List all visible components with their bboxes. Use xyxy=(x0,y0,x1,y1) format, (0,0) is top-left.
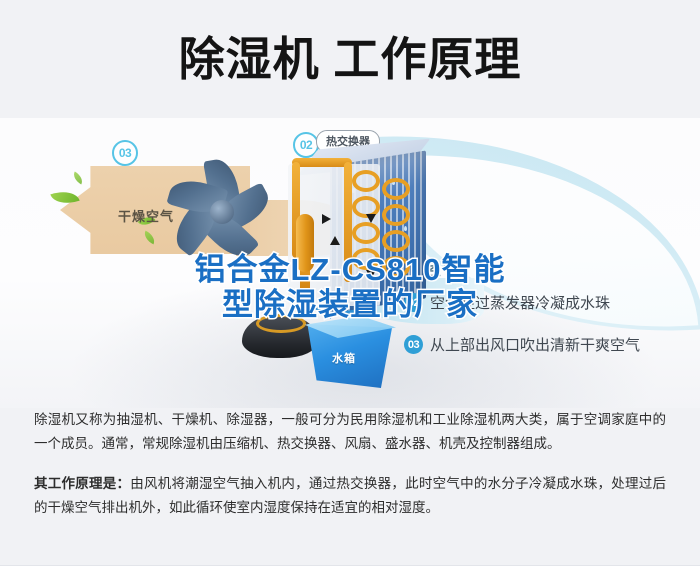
coil-loop xyxy=(382,178,410,200)
dehumidifier-cutaway: 水箱 xyxy=(0,118,700,408)
flow-arrow-right-icon xyxy=(322,214,331,224)
principle-diagram: 干燥空气 潮湿空气 03 02 01 热交换器 xyxy=(0,118,700,408)
step-03-text: 从上部出风口吹出清新干爽空气 xyxy=(430,334,640,355)
water-droplet-icon xyxy=(404,226,407,231)
title-band: 除湿机 工作原理 xyxy=(0,0,700,118)
coil-loop xyxy=(382,256,410,278)
paragraph-1: 除湿机又称为抽湿机、干燥机、除湿器，一般可分为民用除湿机和工业除湿机两大类，属于… xyxy=(34,408,666,456)
step-line-03: 03 从上部出风口吹出清新干爽空气 xyxy=(404,334,640,355)
coil-loop xyxy=(352,170,380,192)
page-title: 除湿机 工作原理 xyxy=(179,36,522,82)
page-root: 除湿机 工作原理 干燥空气 潮湿空气 03 02 01 热交换器 xyxy=(0,0,700,566)
step-02-text: 空气经过蒸发器冷凝成水珠 xyxy=(430,292,610,313)
copper-pipe xyxy=(344,162,352,282)
paragraph-2: 其工作原理是：由风机将潮湿空气抽入机内，通过热交换器，此时空气中的水分子冷凝成水… xyxy=(34,472,666,520)
water-tank-label: 水箱 xyxy=(332,350,356,366)
badge-step-03-inline: 03 xyxy=(404,335,423,354)
fan-hub xyxy=(210,200,234,224)
coil-loop xyxy=(382,230,410,252)
coil-loop xyxy=(352,222,380,244)
step-line-02: 02 空气经过蒸发器冷凝成水珠 xyxy=(404,292,610,313)
flow-arrow-down-icon xyxy=(366,270,376,279)
refrigerant-cylinder xyxy=(296,214,314,272)
flow-arrow-up-icon xyxy=(330,236,340,245)
paragraph-2-lead: 其工作原理是： xyxy=(34,476,130,491)
compressor-ring xyxy=(256,314,306,333)
badge-step-02-inline: 02 xyxy=(404,293,423,312)
flow-arrow-down-icon xyxy=(366,214,376,223)
coil-loop xyxy=(352,248,380,270)
coil-loop xyxy=(382,204,410,226)
article-body: 除湿机又称为抽湿机、干燥机、除湿器，一般可分为民用除湿机和工业除湿机两大类，属于… xyxy=(0,408,700,520)
copper-pipe xyxy=(292,158,352,167)
